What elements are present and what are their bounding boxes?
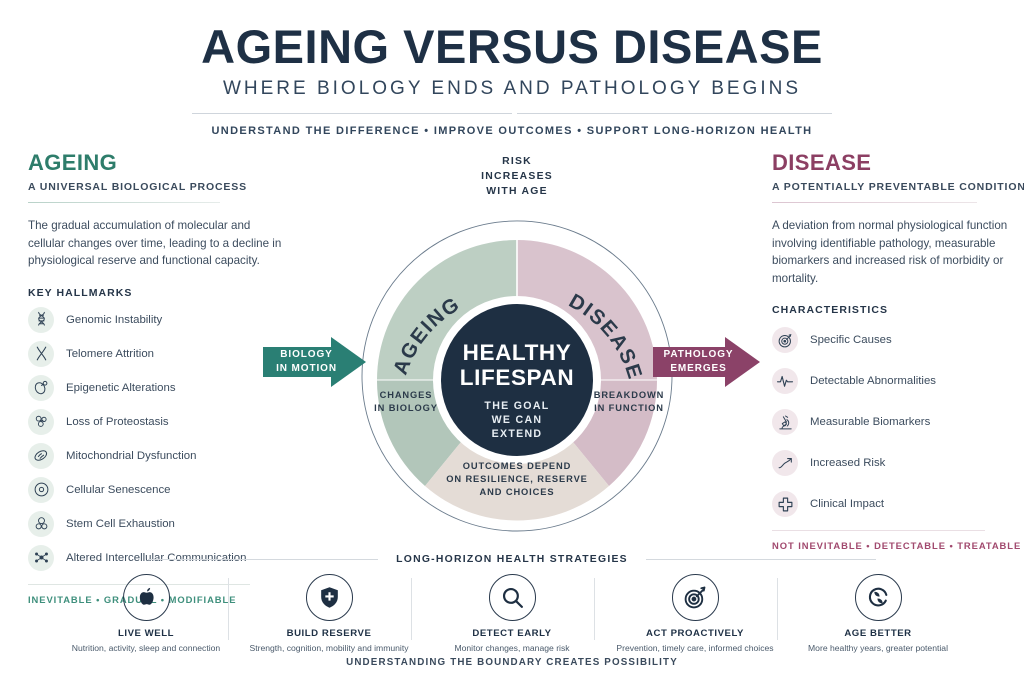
bottom-segment-line3: AND CHOICES [480,487,555,497]
right-segment-line1: BREAKDOWN [594,390,665,400]
header-divider [192,113,832,114]
hallmark-label: Epigenetic Alterations [66,382,176,394]
biology-in-motion-arrow: BIOLOGY IN MOTION [263,337,366,387]
strategy-card[interactable]: BUILD RESERVE Strength, cognition, mobil… [245,574,413,652]
left-arrow-label: BIOLOGY IN MOTION [284,348,337,377]
strategy-name: ACT PROACTIVELY [611,628,779,639]
hallmark-item[interactable]: Telomere Attrition [28,341,283,367]
hallmark-item[interactable]: Genomic Instability [28,307,283,333]
ageing-description: The gradual accumulation of molecular an… [28,217,283,270]
ageing-column: AGEING A UNIVERSAL BIOLOGICAL PROCESS Th… [28,152,283,605]
hallmark-item[interactable]: Mitochondrial Dysfunction [28,443,283,469]
strategy-desc: Nutrition, activity, sleep and connectio… [62,642,230,654]
characteristic-item[interactable]: Measurable Biomarkers [772,409,1024,435]
header-tagline: UNDERSTAND THE DIFFERENCE • IMPROVE OUTC… [0,125,1024,137]
characteristic-label: Increased Risk [810,457,885,469]
left-segment-line2: IN BIOLOGY [374,403,438,413]
disease-column: DISEASE A POTENTIALLY PREVENTABLE CONDIT… [772,152,1024,551]
center-sub-line2: WE CAN [492,414,543,426]
protein-cluster-icon [28,409,54,435]
medical-cross-icon [772,491,798,517]
shield-plus-icon [306,574,353,621]
hallmark-label: Cellular Senescence [66,484,170,496]
strategies-heading: LONG-HORIZON HEALTH STRATEGIES [396,554,628,565]
hallmark-label: Loss of Proteostasis [66,416,169,428]
center-sub-line3: EXTEND [492,428,543,440]
strategy-name: LIVE WELL [62,628,230,639]
strategies-heading-row: LONG-HORIZON HEALTH STRATEGIES [0,551,1024,569]
hallmark-label: Telomere Attrition [66,348,154,360]
heartbeat-icon [772,368,798,394]
hallmark-label: Stem Cell Exhaustion [66,518,175,530]
strategy-name: DETECT EARLY [428,628,596,639]
characteristic-label: Clinical Impact [810,498,884,510]
characteristic-item[interactable]: Clinical Impact [772,491,1024,517]
hallmark-item[interactable]: Loss of Proteostasis [28,409,283,435]
strategy-card[interactable]: AGE BETTER More healthy years, greater p… [794,574,962,652]
characteristic-item[interactable]: Specific Causes [772,327,1024,353]
characteristic-label: Detectable Abnormalities [810,375,936,387]
disease-subtitle: A POTENTIALLY PREVENTABLE CONDITION [772,181,1024,193]
center-sub-line1: THE GOAL [484,400,549,412]
epigenetic-tag-icon [28,375,54,401]
disease-list-heading: CHARACTERISTICS [772,304,1024,316]
characteristic-label: Specific Causes [810,334,892,346]
hallmark-item[interactable]: Epigenetic Alterations [28,375,283,401]
cell-nucleus-icon [28,477,54,503]
target-arrow-icon [672,574,719,621]
characteristic-item[interactable]: Increased Risk [772,450,1024,476]
ageing-divider [28,202,220,203]
disease-title: DISEASE [772,152,1024,174]
target-icon [772,327,798,353]
page-title: AGEING VERSUS DISEASE [0,22,1024,71]
dna-icon [28,307,54,333]
right-arrow-label: PATHOLOGY EMERGES [672,348,734,377]
strategy-card[interactable]: ACT PROACTIVELY Prevention, timely care,… [611,574,779,652]
strategies-rule-left [148,559,378,560]
right-segment-line2: IN FUNCTION [594,403,664,413]
left-segment-line1: CHANGES [380,390,433,400]
hallmark-item[interactable]: Stem Cell Exhaustion [28,511,283,537]
center-title-line2: LIFESPAN [460,365,574,390]
disease-footer-tags: NOT INEVITABLE • DETECTABLE • TREATABLE [772,540,1024,551]
chromosome-icon [28,341,54,367]
hallmark-item[interactable]: Cellular Senescence [28,477,283,503]
center-title-line1: HEALTHY [463,340,572,365]
hallmark-label: Genomic Instability [66,314,162,326]
characteristic-label: Measurable Biomarkers [810,416,930,428]
disease-divider [772,202,977,203]
ageing-list-heading: KEY HALLMARKS [28,287,283,299]
strategy-desc: Monitor changes, manage risk [428,642,596,654]
page-subtitle: WHERE BIOLOGY ENDS AND PATHOLOGY BEGINS [0,78,1024,100]
disease-footer-divider [772,530,985,531]
strategy-name: AGE BETTER [794,628,962,639]
page-footer: UNDERSTANDING THE BOUNDARY CREATES POSSI… [0,657,1024,668]
strategy-desc: More healthy years, greater potential [794,642,962,654]
stem-cell-icon [28,511,54,537]
characteristic-item[interactable]: Detectable Abnormalities [772,368,1024,394]
strategy-name: BUILD RESERVE [245,628,413,639]
trend-up-icon [772,450,798,476]
header: AGEING VERSUS DISEASE WHERE BIOLOGY ENDS… [0,22,1024,137]
hallmark-label: Mitochondrial Dysfunction [66,450,196,462]
disease-description: A deviation from normal physiological fu… [772,217,1024,287]
ageing-subtitle: A UNIVERSAL BIOLOGICAL PROCESS [28,181,283,193]
mitochondria-icon [28,443,54,469]
strategy-desc: Prevention, timely care, informed choice… [611,642,779,654]
strategy-card[interactable]: LIVE WELL Nutrition, activity, sleep and… [62,574,230,652]
bottom-segment-line2: ON RESILIENCE, RESERVE [446,474,588,484]
microscope-icon [772,409,798,435]
renewal-leaf-icon [855,574,902,621]
ageing-title: AGEING [28,152,283,174]
pathology-emerges-arrow: PATHOLOGY EMERGES [653,337,760,387]
strategies-rule-right [646,559,876,560]
apple-icon [123,574,170,621]
magnifier-icon [489,574,536,621]
strategy-card[interactable]: DETECT EARLY Monitor changes, manage ris… [428,574,596,652]
strategy-desc: Strength, cognition, mobility and immuni… [245,642,413,654]
strategies-row: LIVE WELL Nutrition, activity, sleep and… [62,574,962,652]
bottom-segment-line1: OUTCOMES DEPEND [463,461,572,471]
